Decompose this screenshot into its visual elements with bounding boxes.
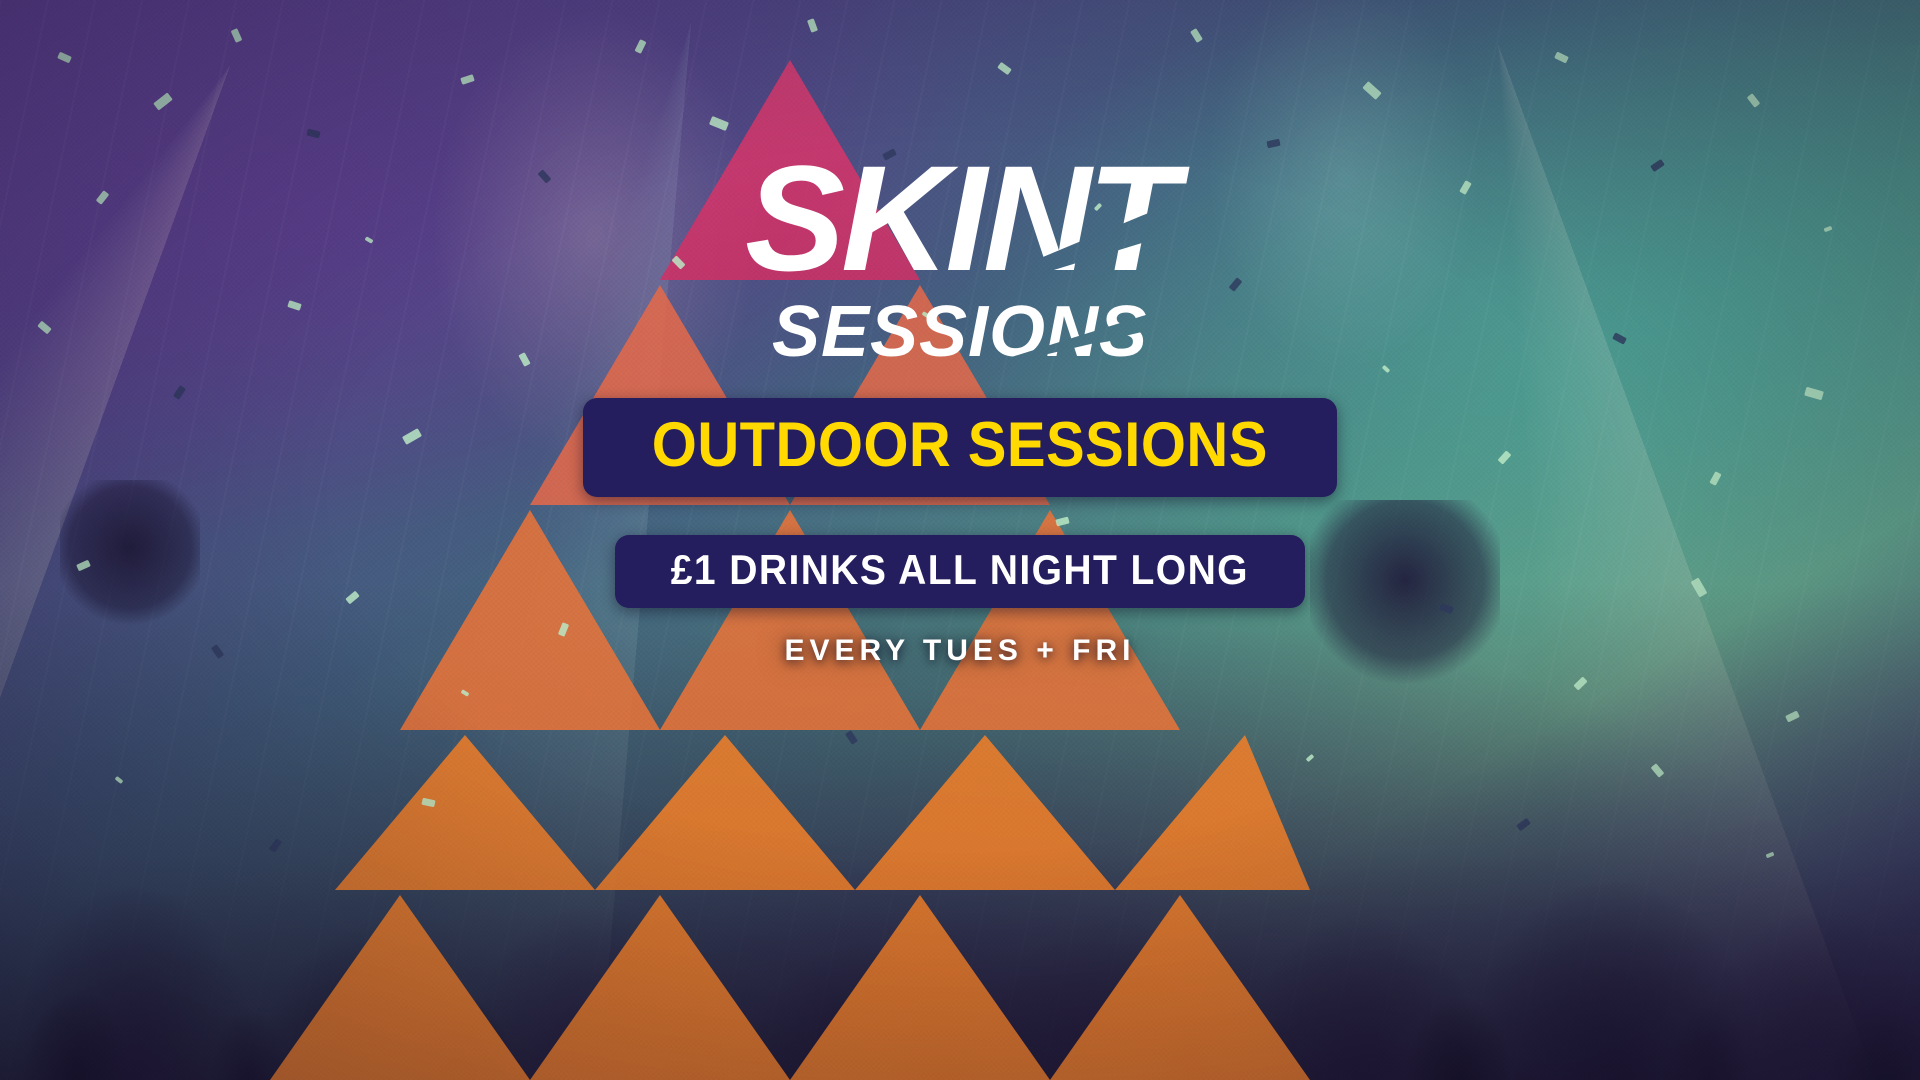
sessions-wordmark: SESSIONS — [640, 290, 1280, 370]
skint-sessions-logo: SKINT SESSIONS — [640, 150, 1280, 360]
schedule-label: EVERY TUES + FRI — [785, 634, 1136, 668]
outdoor-sessions-label: OUTDOOR SESSIONS — [652, 414, 1268, 477]
skint-wordmark: SKINT — [640, 150, 1280, 300]
event-poster: SKINT SESSIONS OUTDOOR SESSIONS £1 — [0, 0, 1920, 1080]
skint-text: SKINT — [745, 150, 1190, 300]
drinks-offer-label: £1 DRINKS ALL NIGHT LONG — [671, 549, 1249, 591]
outdoor-sessions-banner: OUTDOOR SESSIONS — [583, 398, 1337, 497]
sessions-text: SESSIONS — [772, 292, 1148, 370]
poster-content: SKINT SESSIONS OUTDOOR SESSIONS £1 — [0, 0, 1920, 1080]
drinks-offer-banner: £1 DRINKS ALL NIGHT LONG — [615, 535, 1305, 608]
